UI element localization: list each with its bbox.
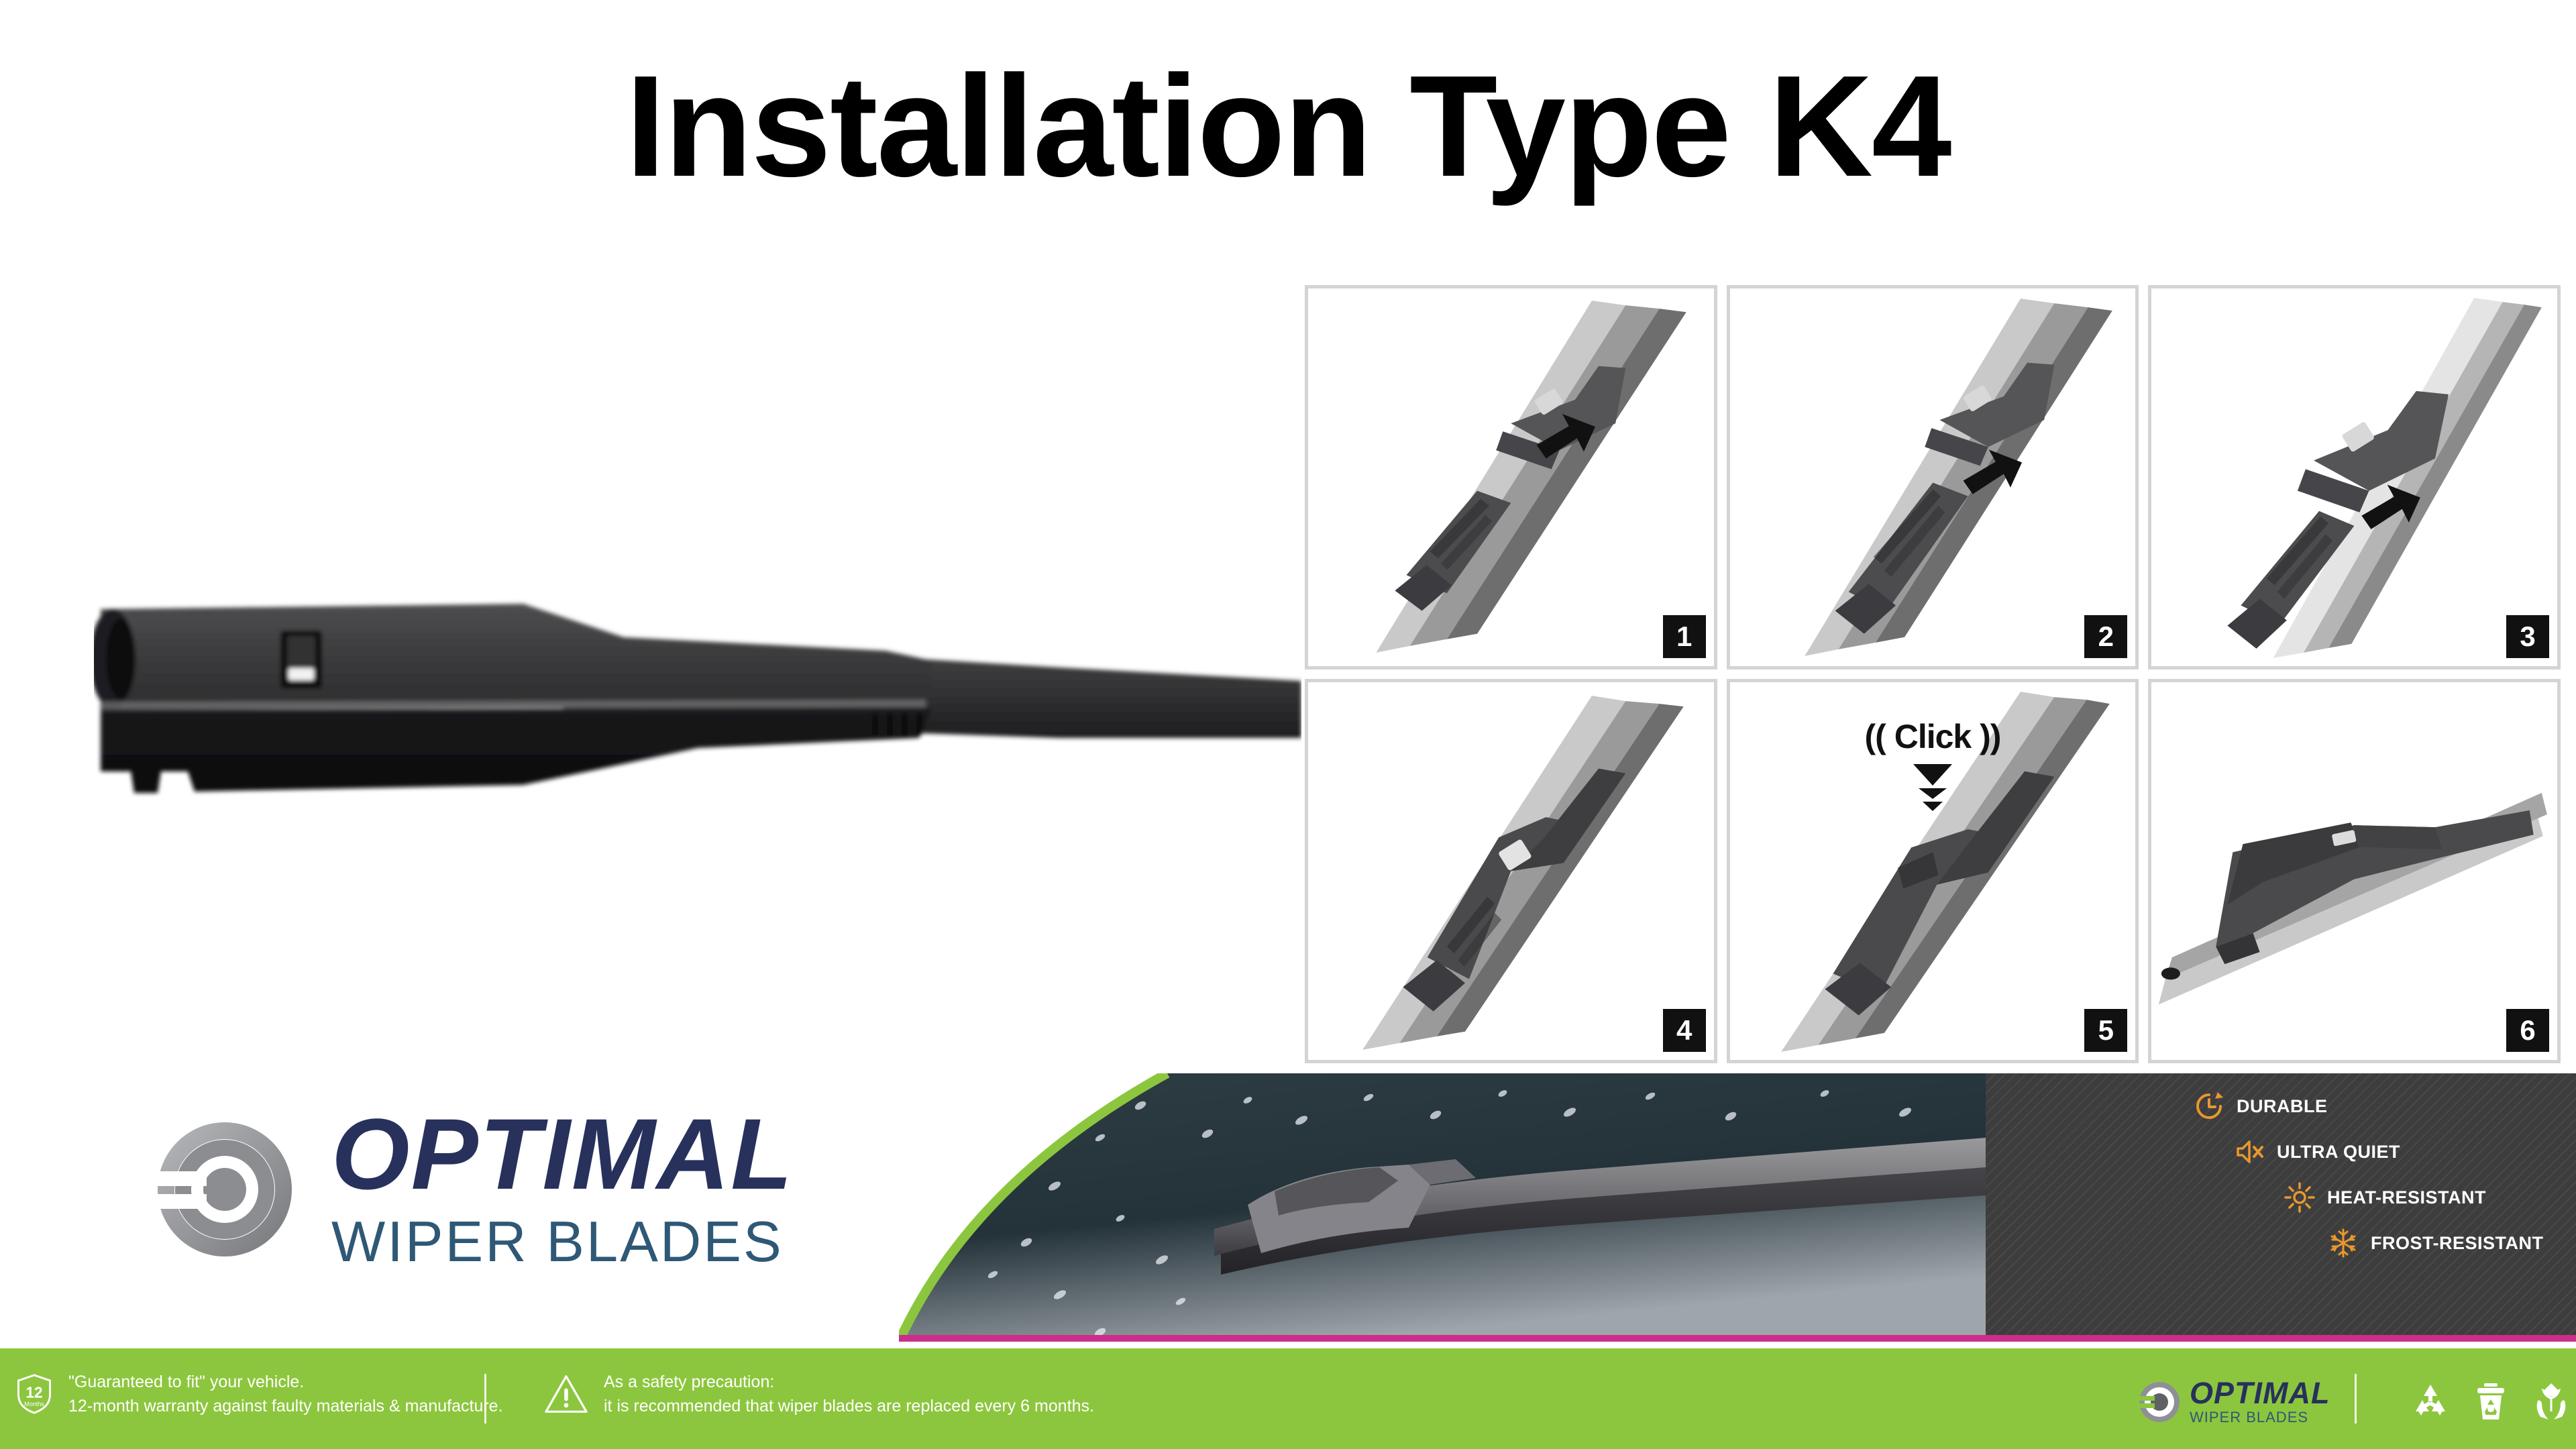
footer-bar: 12 Months "Guaranteed to fit" your vehic… xyxy=(0,1348,2576,1449)
feature-label: DURABLE xyxy=(2237,1096,2328,1117)
step-badge-5: 5 xyxy=(2084,1009,2127,1052)
warning-triangle-icon xyxy=(543,1373,589,1415)
step-panel-3: 3 xyxy=(2148,285,2561,669)
footer-safety-block: As a safety precaution: it is recommende… xyxy=(543,1373,1094,1416)
eco-icon-group xyxy=(2412,1381,2570,1422)
step-6-illustration xyxy=(2151,682,2557,1060)
feature-label: HEAT-RESISTANT xyxy=(2327,1187,2486,1208)
step-4-illustration xyxy=(1308,682,1714,1060)
step-3-illustration xyxy=(2151,288,2557,666)
feature-label: ULTRA QUIET xyxy=(2277,1142,2400,1163)
step-badge-2: 2 xyxy=(2084,615,2127,658)
step-panel-6: 6 xyxy=(2148,679,2561,1063)
page-title: Installation Type K4 xyxy=(0,54,2576,198)
optimal-logo-text: OPTIMAL WIPER BLADES xyxy=(331,1104,794,1275)
feature-list: DURABLE ULTRA QUIET xyxy=(2133,1091,2563,1258)
footer-warranty-block: 12 Months "Guaranteed to fit" your vehic… xyxy=(15,1373,503,1416)
optimal-wordmark: OPTIMAL xyxy=(331,1104,794,1204)
svg-text:12: 12 xyxy=(25,1384,42,1401)
warranty-line-1: "Guaranteed to fit" your vehicle. xyxy=(68,1373,503,1392)
click-label: (( Click )) xyxy=(1865,717,2001,756)
snowflake-icon xyxy=(2328,1228,2359,1258)
feature-frost-resistant: FROST-RESISTANT xyxy=(2133,1228,2563,1258)
footer-divider-2 xyxy=(2355,1374,2357,1424)
step-badge-1: 1 xyxy=(1663,615,1706,658)
footer-optimal-tagline: WIPER BLADES xyxy=(2190,1409,2330,1426)
footer-optimal-wordmark: OPTIMAL xyxy=(2190,1378,2330,1408)
banner-magenta-divider xyxy=(899,1335,2576,1342)
poster-root: Installation Type K4 xyxy=(0,0,2576,1449)
sun-icon xyxy=(2284,1182,2315,1213)
step-2-illustration xyxy=(1730,288,2136,666)
recycle-bin-icon xyxy=(2472,1381,2510,1422)
hero-product-photo xyxy=(94,537,1301,852)
step-panel-5: (( Click )) 5 xyxy=(1727,679,2139,1063)
step-1-illustration xyxy=(1308,288,1714,666)
optimal-target-icon xyxy=(154,1119,295,1260)
footer-logo-text: OPTIMAL WIPER BLADES xyxy=(2190,1378,2330,1426)
warranty-line-2: 12-month warranty against faulty materia… xyxy=(68,1397,503,1416)
chevron-double-down-icon xyxy=(1909,761,1956,815)
feature-heat-resistant: HEAT-RESISTANT xyxy=(2133,1182,2563,1213)
step-badge-6: 6 xyxy=(2506,1009,2549,1052)
hands-plant-icon xyxy=(2532,1381,2570,1422)
feature-durable: DURABLE xyxy=(2133,1091,2563,1122)
optimal-tagline: WIPER BLADES xyxy=(331,1210,794,1275)
speaker-mute-icon xyxy=(2234,1136,2265,1167)
footer-optimal-logo: OPTIMAL WIPER BLADES xyxy=(2139,1378,2330,1426)
clock-arrow-icon xyxy=(2194,1091,2224,1122)
shield-12-months-icon: 12 Months xyxy=(15,1373,54,1415)
safety-line-2: it is recommended that wiper blades are … xyxy=(604,1397,1094,1416)
optimal-logo: OPTIMAL WIPER BLADES xyxy=(154,1104,794,1275)
step-badge-3: 3 xyxy=(2506,615,2549,658)
feature-label: FROST-RESISTANT xyxy=(2371,1233,2544,1254)
installation-steps-grid: 1 xyxy=(1305,285,2561,1063)
recycle-icon xyxy=(2412,1381,2449,1422)
safety-line-1: As a safety precaution: xyxy=(604,1373,1094,1392)
step-panel-4: 4 xyxy=(1305,679,1717,1063)
footer-divider-1 xyxy=(484,1374,486,1424)
banner-windscreen-photo xyxy=(899,1073,1986,1342)
optimal-target-icon xyxy=(2139,1381,2180,1423)
feature-ultra-quiet: ULTRA QUIET xyxy=(2133,1136,2563,1167)
step-panel-1: 1 xyxy=(1305,285,1717,669)
svg-text:Months: Months xyxy=(24,1401,44,1407)
step-panel-2: 2 xyxy=(1727,285,2139,669)
step-badge-4: 4 xyxy=(1663,1009,1706,1052)
marketing-banner: DURABLE ULTRA QUIET xyxy=(899,1073,2576,1342)
